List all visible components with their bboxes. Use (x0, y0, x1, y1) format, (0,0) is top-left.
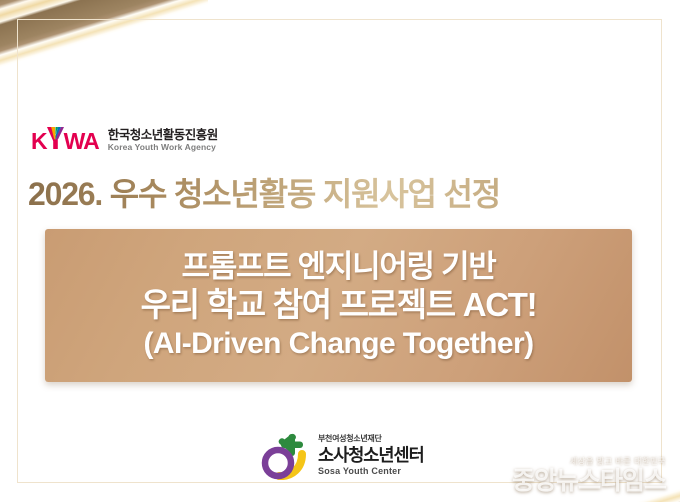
kywa-letter-k: K (31, 130, 47, 153)
center-logo: 부천여성청소년재단 소사청소년센터 Sosa Youth Center (261, 432, 424, 480)
foundation-name: 부천여성청소년재단 (318, 435, 424, 444)
center-name-english: Sosa Youth Center (318, 467, 424, 477)
project-title-line-1: 프롬프트 엔지니어링 기반 (181, 249, 495, 285)
news-watermark: 세상을 밝고 바른 대한민국 중앙뉴스타임스 (512, 457, 666, 496)
sosa-center-symbol-icon (261, 432, 309, 480)
kywa-rainbow-y-icon (47, 127, 64, 149)
center-name-korean: 소사청소년센터 (318, 446, 424, 465)
agency-name-korean: 한국청소년활동진흥원 (108, 128, 218, 142)
agency-name-english: Korea Youth Work Agency (108, 143, 218, 153)
kywa-letters-wa: WA (64, 130, 99, 153)
project-title-box: 프롬프트 엔지니어링 기반 우리 학교 참여 프로젝트 ACT! (AI-Dri… (45, 229, 632, 382)
agency-logo: K WA 한국청소년활동진흥원 Korea Youth Work Agency (31, 127, 218, 153)
project-subtitle-english: (AI-Driven Change Together) (144, 327, 534, 362)
poster-canvas: K WA 한국청소년활동진흥원 Korea Youth Work Agency … (0, 0, 680, 502)
watermark-outlet-name: 중앙뉴스타임스 (512, 467, 666, 496)
agency-name-block: 한국청소년활동진흥원 Korea Youth Work Agency (108, 128, 218, 153)
center-name-block: 부천여성청소년재단 소사청소년센터 Sosa Youth Center (318, 435, 424, 477)
project-title-line-2: 우리 학교 참여 프로젝트 ACT! (141, 286, 537, 324)
kywa-wordmark: K WA (31, 127, 99, 153)
watermark-tagline: 세상을 밝고 바른 대한민국 (512, 457, 666, 466)
headline-title: 2026. 우수 청소년활동 지원사업 선정 (28, 174, 652, 215)
